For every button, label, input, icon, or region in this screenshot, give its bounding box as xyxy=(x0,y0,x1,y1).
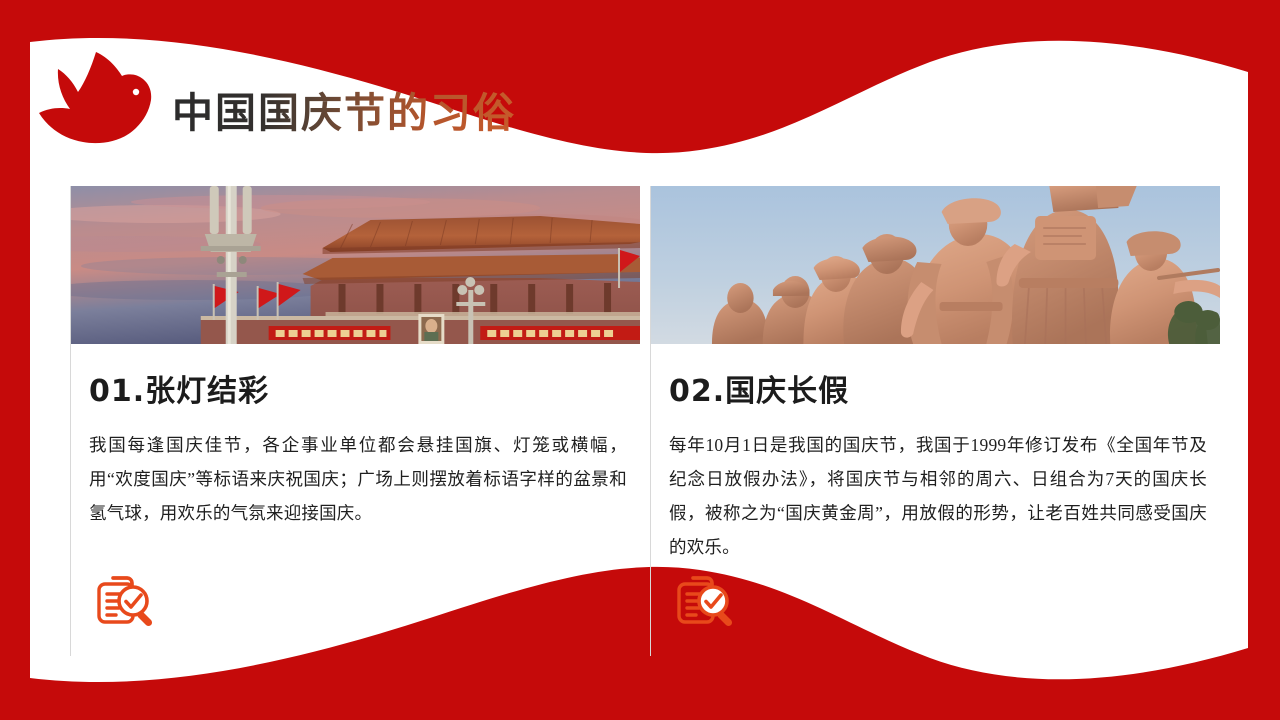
card-2-body: 02.国庆长假 每年10月1日是我国的国庆节，我国于1999年修订发布《全国年节… xyxy=(651,344,1220,564)
cards-container: 01.张灯结彩 我国每逢国庆佳节，各企事业单位都会悬挂国旗、灯笼或横幅，用“欢度… xyxy=(0,0,1280,720)
document-search-check-icon[interactable] xyxy=(91,568,159,636)
content-card-1[interactable]: 01.张灯结彩 我国每逢国庆佳节，各企事业单位都会悬挂国旗、灯笼或横幅，用“欢度… xyxy=(70,186,640,656)
card-2-paragraph: 每年10月1日是我国的国庆节，我国于1999年修订发布《全国年节及纪念日放假办法… xyxy=(669,428,1207,564)
card-1-paragraph: 我国每逢国庆佳节，各企事业单位都会悬挂国旗、灯笼或横幅，用“欢度国庆”等标语来庆… xyxy=(89,428,627,530)
card-2-heading: 02.国庆长假 xyxy=(669,372,1202,412)
card-1-photo xyxy=(71,186,640,344)
slide-canvas: 中国国庆节的习俗 xyxy=(0,0,1280,720)
card-1-heading: 01.张灯结彩 xyxy=(89,372,622,412)
card-2-photo xyxy=(651,186,1220,344)
card-1-body: 01.张灯结彩 我国每逢国庆佳节，各企事业单位都会悬挂国旗、灯笼或横幅，用“欢度… xyxy=(71,344,640,530)
document-search-check-icon[interactable] xyxy=(671,568,739,636)
monument-sculpture-photo xyxy=(651,186,1220,344)
content-card-2[interactable]: 02.国庆长假 每年10月1日是我国的国庆节，我国于1999年修订发布《全国年节… xyxy=(650,186,1220,656)
tiananmen-photo xyxy=(71,186,640,344)
